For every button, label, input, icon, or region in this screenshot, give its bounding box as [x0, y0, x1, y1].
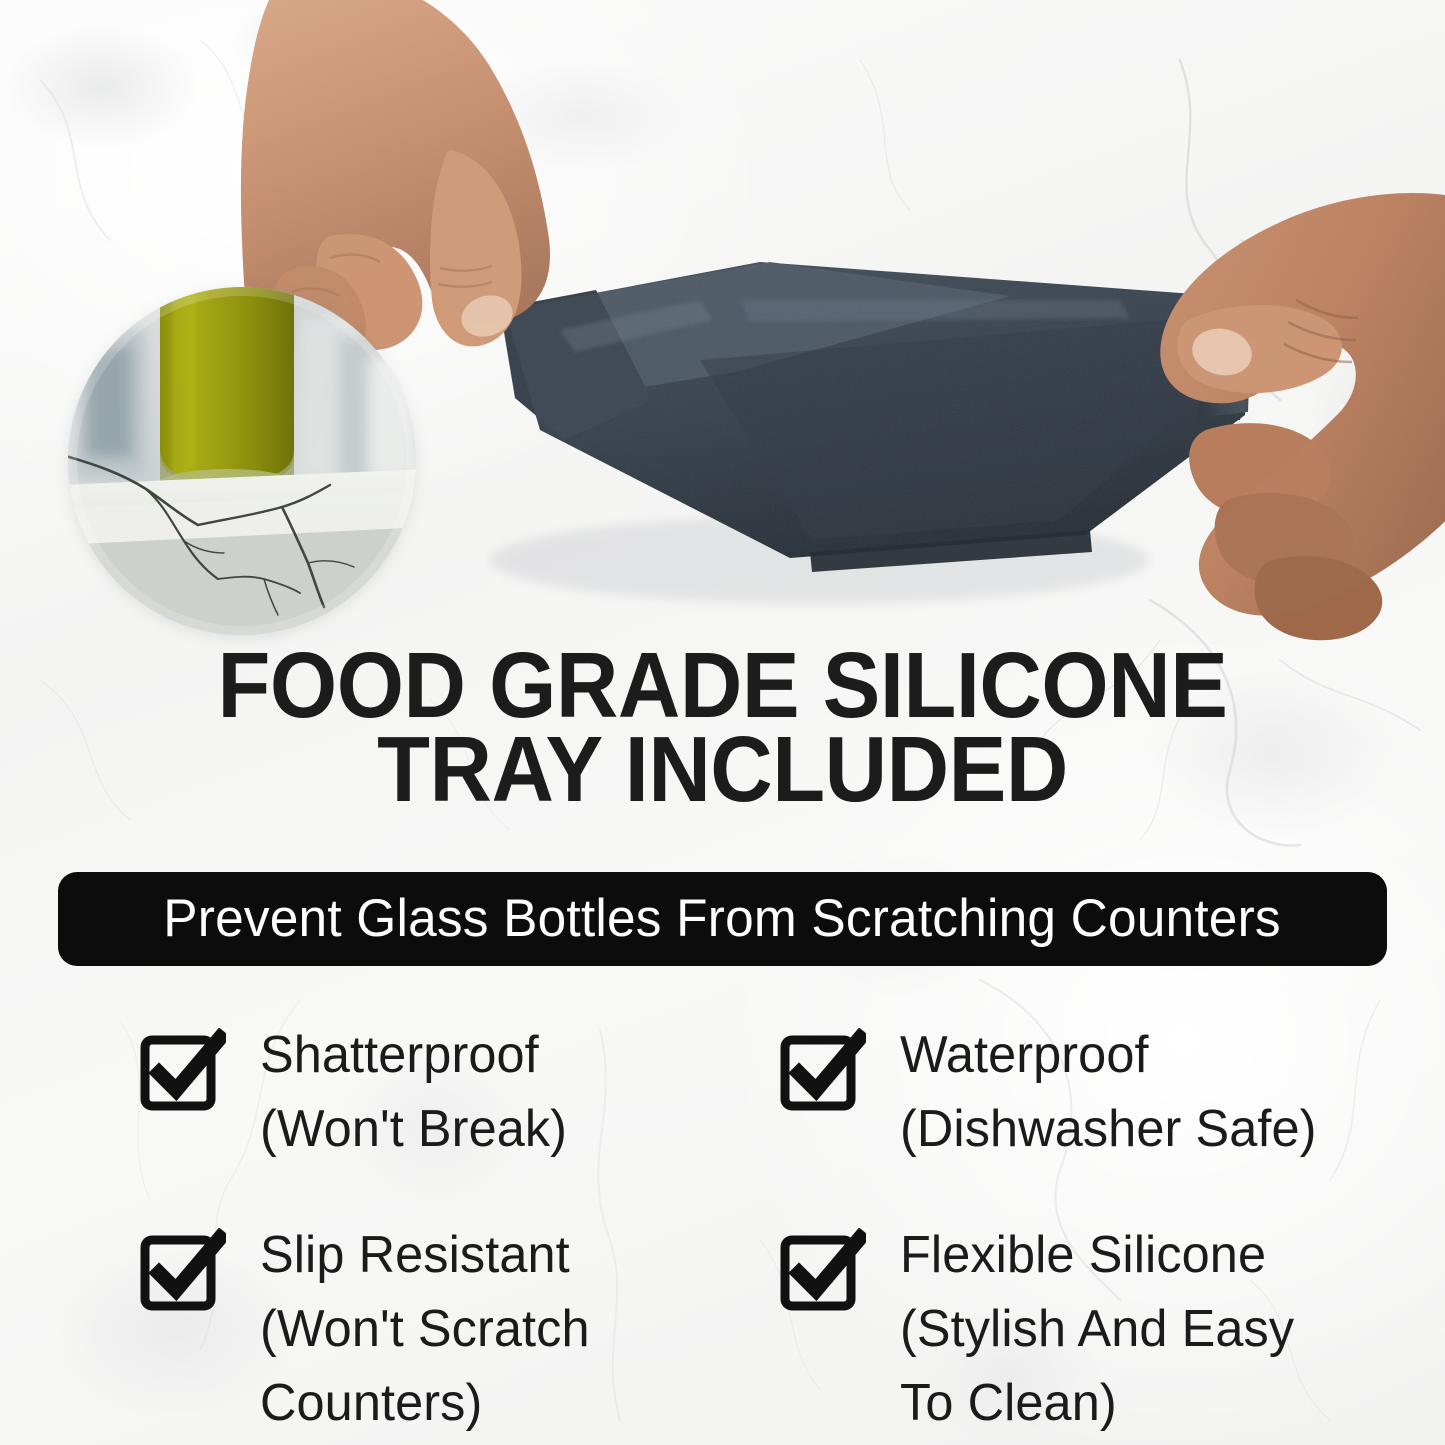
feature-label: Slip Resistant (Won't Scratch Counters): [260, 1218, 590, 1440]
subtitle-banner: Prevent Glass Bottles From Scratching Co…: [58, 872, 1387, 966]
feature-flexible-silicone: Flexible Silicone (Stylish And Easy To C…: [780, 1218, 1410, 1418]
checkbox-checked-icon: [140, 1228, 226, 1314]
infographic-page: FOOD GRADE SILICONE TRAY INCLUDED Preven…: [0, 0, 1445, 1445]
feature-label: Waterproof (Dishwasher Safe): [900, 1018, 1317, 1166]
feature-label: Flexible Silicone (Stylish And Easy To C…: [900, 1218, 1294, 1440]
feature-shatterproof: Shatterproof (Won't Break): [140, 1018, 780, 1218]
page-title: FOOD GRADE SILICONE TRAY INCLUDED: [51, 643, 1395, 811]
checkbox-checked-icon: [780, 1028, 866, 1114]
subtitle-banner-text: Prevent Glass Bottles From Scratching Co…: [164, 891, 1282, 947]
feature-label: Shatterproof (Won't Break): [260, 1018, 567, 1166]
checkbox-checked-icon: [780, 1228, 866, 1314]
feature-waterproof: Waterproof (Dishwasher Safe): [780, 1018, 1410, 1218]
feature-slip-resistant: Slip Resistant (Won't Scratch Counters): [140, 1218, 780, 1418]
feature-list: Shatterproof (Won't Break) Waterproof (D…: [140, 1018, 1410, 1438]
headline-line-2: TRAY INCLUDED: [51, 727, 1395, 811]
inset-cracked-counter-photo: [68, 287, 416, 635]
checkbox-checked-icon: [140, 1028, 226, 1114]
